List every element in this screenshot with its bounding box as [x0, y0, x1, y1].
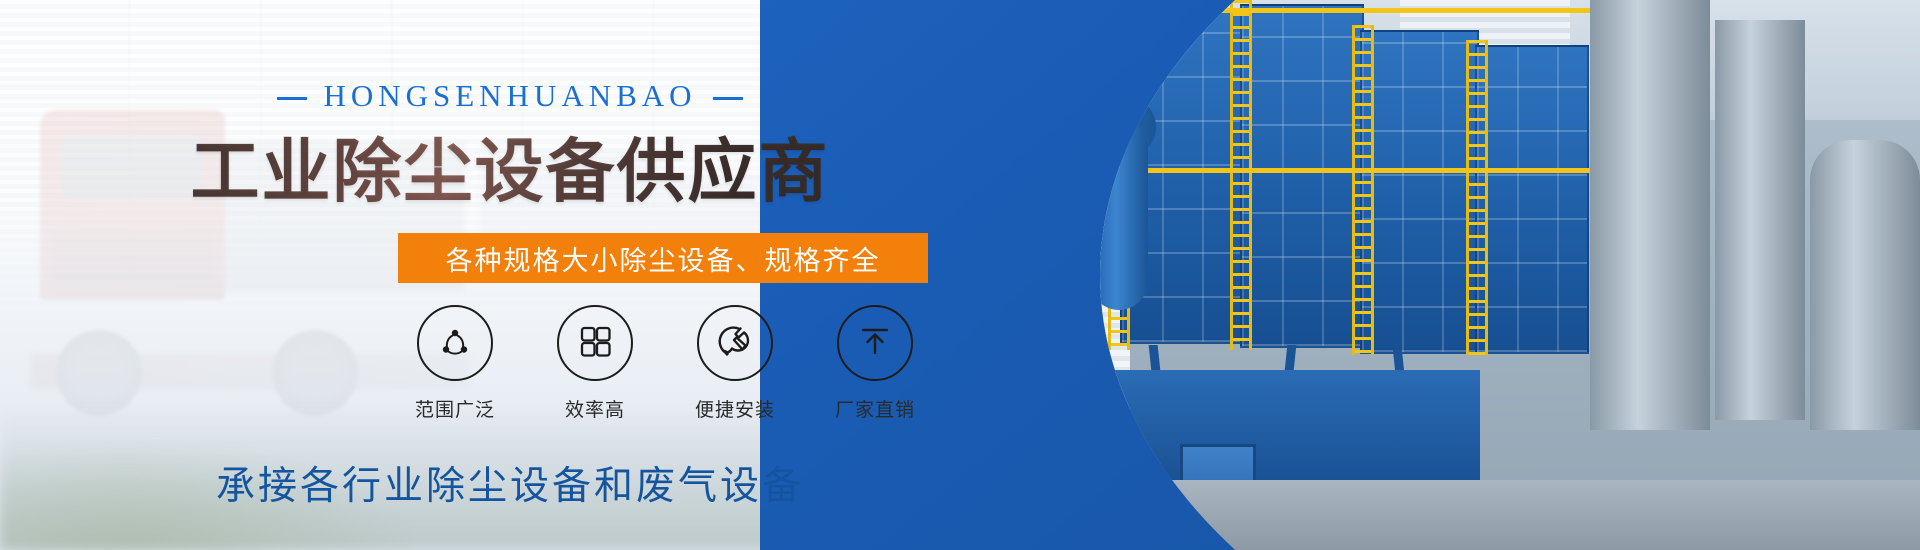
feature-item: 范围广泛 — [385, 305, 525, 422]
brand-pinyin: HONGSENHUANBAO — [0, 78, 1020, 114]
hero-subbar: 各种规格大小除尘设备、规格齐全 — [398, 233, 928, 283]
hero-headline: 工业除尘设备供应商 — [0, 115, 1020, 215]
hero-content: HONGSENHUANBAO 工业除尘设备供应商 各种规格大小除尘设备、规格齐全 — [0, 0, 1020, 550]
hero-subbar-text: 各种规格大小除尘设备、规格齐全 — [446, 239, 881, 278]
feature-label: 范围广泛 — [415, 395, 495, 422]
feature-icon-circle — [557, 305, 633, 381]
feature-icon-circle — [417, 305, 493, 381]
arrow-up-line-icon — [856, 322, 894, 365]
feature-icon-circle — [837, 305, 913, 381]
dash-right-icon — [713, 97, 743, 100]
brand-pinyin-text: HONGSENHUANBAO — [323, 78, 696, 113]
wrench-icon — [715, 321, 755, 366]
feature-label: 便捷安装 — [695, 395, 775, 422]
feature-icon-circle — [697, 305, 773, 381]
feature-label: 厂家直销 — [835, 395, 915, 422]
feature-item: 厂家直销 — [805, 305, 945, 422]
feature-label: 效率高 — [565, 395, 625, 422]
dash-left-icon — [277, 97, 307, 100]
feature-list: 范围广泛 效率高 — [385, 305, 945, 422]
hero-tagline: 承接各行业除尘设备和废气设备 — [0, 455, 1020, 511]
grid-four-squares-icon — [576, 322, 614, 365]
share-network-icon — [435, 321, 475, 366]
feature-item: 便捷安装 — [665, 305, 805, 422]
hero-banner: HONGSENHUANBAO 工业除尘设备供应商 各种规格大小除尘设备、规格齐全 — [0, 0, 1920, 550]
feature-item: 效率高 — [525, 305, 665, 422]
